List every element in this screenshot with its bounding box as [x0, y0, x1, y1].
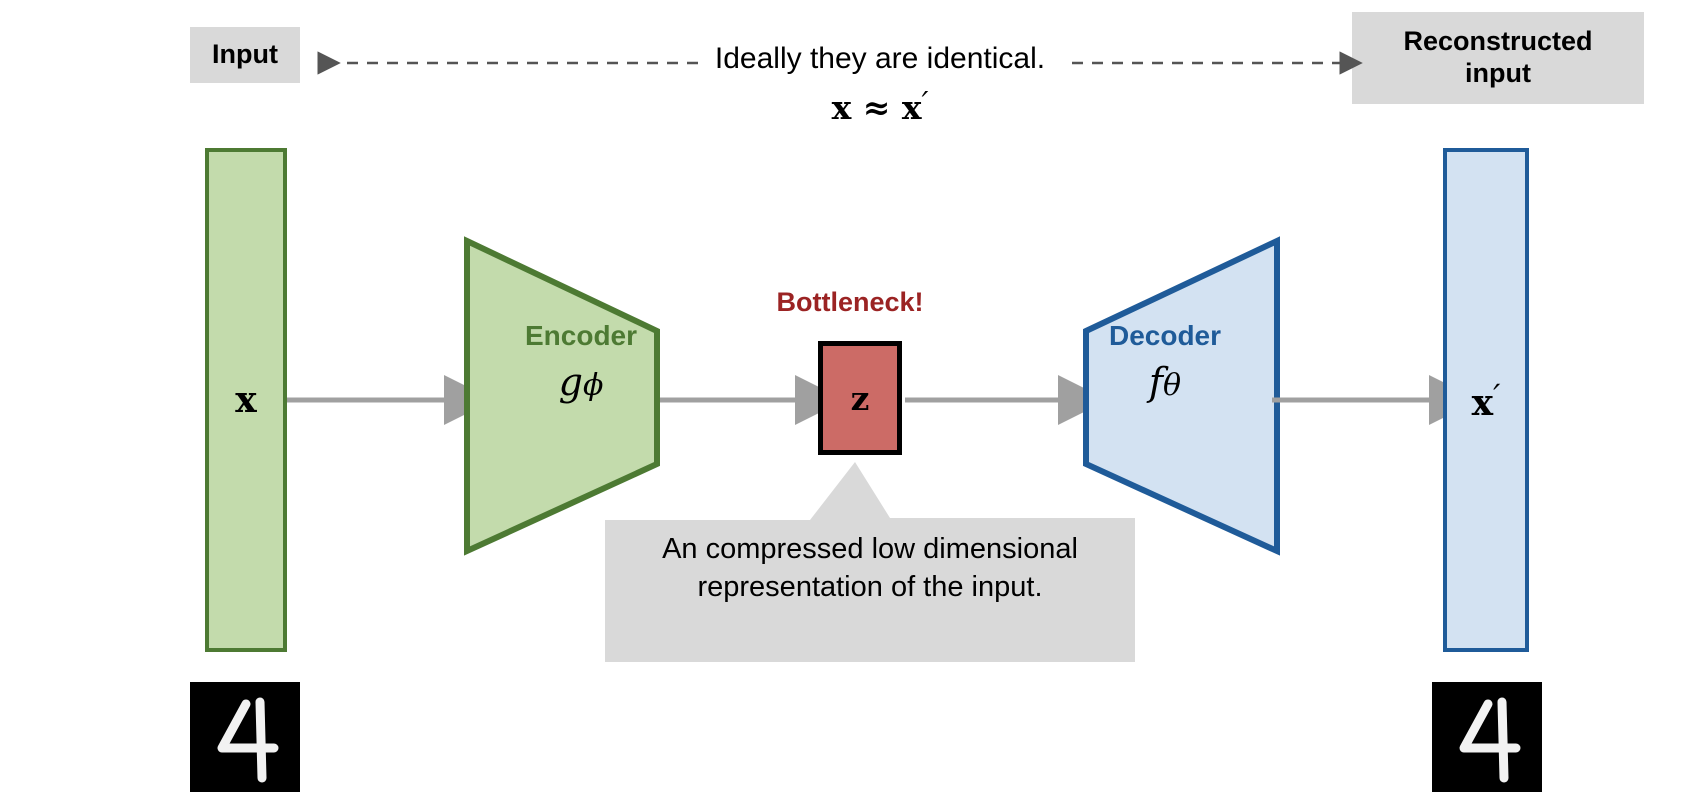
formula-prime: ′ — [922, 86, 929, 121]
formula-operator: ≈ — [863, 88, 891, 127]
digit-four-right-glyph — [1432, 682, 1542, 792]
input-label-text: Input — [212, 39, 278, 71]
bottleneck-callout: An compressed low dimensional representa… — [605, 462, 1135, 662]
input-digit-image — [190, 682, 300, 792]
output-tensor-symbol: x′ — [1472, 377, 1501, 424]
dashed-arrow-to-input — [300, 48, 700, 78]
bottleneck-label: Bottleneck! — [700, 287, 1000, 318]
formula-rhs: x — [902, 88, 922, 127]
arrow-decoder-to-output — [1272, 385, 1457, 415]
reconstructed-input-label-text: Reconstructed input — [1403, 26, 1592, 90]
arrow-input-to-encoder — [287, 385, 472, 415]
reconstructed-input-label-box: Reconstructed input — [1352, 12, 1644, 104]
callout-line-2: representation of the input. — [605, 568, 1135, 606]
bottleneck-latent-box: z — [818, 341, 902, 455]
digit-four-left-glyph — [190, 682, 300, 792]
arrow-encoder-to-bottleneck — [660, 385, 830, 415]
dashed-arrow-to-reconstructed — [1070, 48, 1360, 78]
ideally-identical-caption: Ideally they are identical. — [700, 42, 1060, 76]
input-tensor-bar: x — [205, 148, 287, 652]
arrow-bottleneck-to-decoder — [905, 385, 1085, 415]
input-tensor-symbol: x — [235, 379, 256, 421]
latent-symbol: z — [851, 379, 870, 418]
input-label-box: Input — [190, 27, 300, 83]
output-tensor-bar: x′ — [1443, 148, 1529, 652]
approximation-formula: x ≈ x′ — [700, 86, 1060, 127]
diagram-canvas: Input Reconstructed input Ideally they a… — [0, 0, 1700, 792]
callout-line-1: An compressed low dimensional — [605, 530, 1135, 568]
formula-lhs: x — [832, 88, 852, 127]
reconstructed-digit-image — [1432, 682, 1542, 792]
callout-text: An compressed low dimensional representa… — [605, 530, 1135, 607]
